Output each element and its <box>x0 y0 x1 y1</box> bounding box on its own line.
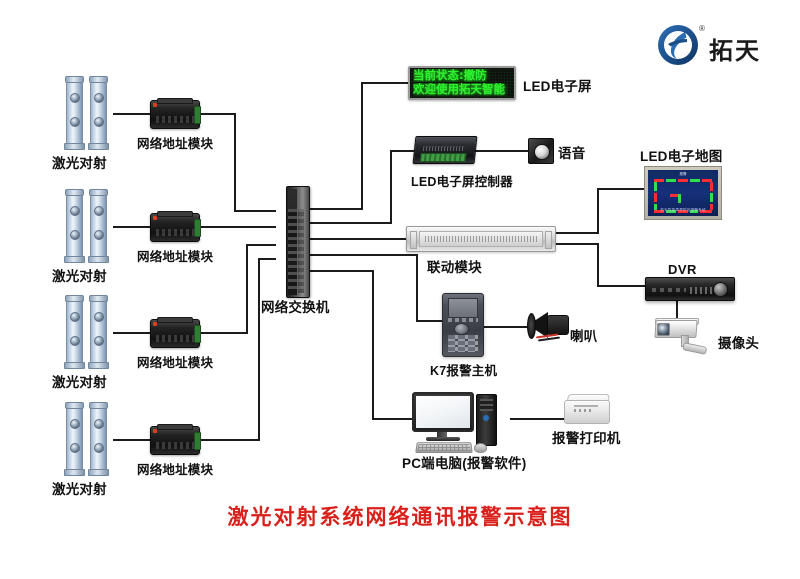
wire-trunk3-switch <box>246 244 276 246</box>
wire-module2-switch <box>198 226 276 228</box>
led-map-screen-title: 报警 <box>648 172 718 177</box>
wire-k7-horn <box>482 326 528 328</box>
network-address-module-4 <box>150 426 200 455</box>
laser-detector-label-4: 激光对射 <box>52 478 107 498</box>
dvr-label: DVR <box>668 262 697 277</box>
wire-trunk3-vertical <box>246 244 248 334</box>
wire-switch-ledctl-v <box>390 150 392 224</box>
wire-detector3-module3 <box>113 332 150 334</box>
network-address-module-label-4: 网络地址模块 <box>137 459 213 478</box>
network-switch <box>286 186 310 298</box>
network-address-module-3 <box>150 319 200 348</box>
registered-mark: ® <box>699 24 705 33</box>
wire-trunk-ledmap-h <box>597 188 644 190</box>
laser-detector-pair-2 <box>66 191 112 261</box>
wire-switch-pc-v <box>372 270 374 420</box>
led-map-label: LED电子地图 <box>640 145 722 165</box>
led-display-label: LED电子屏 <box>523 75 592 95</box>
wire-trunk1-vertical <box>234 113 236 212</box>
laser-detector-pair-4 <box>66 404 112 474</box>
tuotian-emblem-icon <box>655 22 701 68</box>
voice-speaker-module <box>528 138 554 164</box>
wire-module4-trunk <box>198 439 260 441</box>
wire-switch-ledscreen-h2 <box>361 82 408 84</box>
network-address-module-label-3: 网络地址模块 <box>137 352 213 371</box>
wire-linkage-trunk-bottom <box>554 243 599 245</box>
dvr-recorder <box>645 277 735 301</box>
network-address-module-2 <box>150 213 200 242</box>
wire-switch-ledctl-h1 <box>296 222 392 224</box>
wire-trunk1-switch <box>234 210 276 212</box>
wire-switch-ledscreen-v <box>361 82 363 210</box>
alarm-printer-label: 报警打印机 <box>552 427 621 447</box>
wire-trunk4-switch <box>258 258 276 260</box>
wire-switch-pc-h2 <box>372 418 412 420</box>
wire-trunk-dvr-h <box>597 285 645 287</box>
k7-alarm-host-label: K7报警主机 <box>430 360 497 379</box>
network-address-module-1 <box>150 100 200 129</box>
wire-pc-printer <box>510 418 564 420</box>
voice-label: 语音 <box>558 142 585 162</box>
led-display-line1: 当前状态:撤防 <box>413 69 511 82</box>
alarm-printer <box>564 394 612 426</box>
brand-name: 拓天 <box>709 31 761 66</box>
laser-detector-label-3: 激光对射 <box>52 371 107 391</box>
network-address-module-label-1: 网络地址模块 <box>137 133 213 152</box>
led-display-line2: 欢迎使用拓天智能 <box>413 83 511 96</box>
led-electronic-map: 报警 拓天智能周界防范报警系统 <box>644 166 722 220</box>
horn-label: 喇叭 <box>570 325 597 345</box>
surveillance-camera <box>655 318 711 352</box>
wire-switch-k7-h2 <box>416 320 442 322</box>
k7-alarm-host <box>442 293 484 357</box>
wire-switch-linkage <box>296 238 406 240</box>
brand-logo: ® 拓天 <box>655 22 785 70</box>
laser-detector-pair-3 <box>66 297 112 367</box>
wire-switch-k7-v <box>416 254 418 322</box>
led-screen-controller-label: LED电子屏控制器 <box>411 171 513 190</box>
led-map-screen-caption: 拓天智能周界防范报警系统 <box>648 208 718 213</box>
linkage-module-label: 联动模块 <box>427 256 482 276</box>
wire-trunk4-vertical <box>258 258 260 441</box>
network-switch-label: 网络交换机 <box>261 296 330 316</box>
wire-trunk-ledmap-v <box>597 188 599 232</box>
laser-detector-label-2: 激光对射 <box>52 265 107 285</box>
led-screen-controller <box>413 136 478 164</box>
wire-linkage-trunk-top <box>554 232 599 234</box>
network-address-module-label-2: 网络地址模块 <box>137 246 213 265</box>
wire-module1-trunk <box>198 113 236 115</box>
wire-detector2-module2 <box>113 226 150 228</box>
wire-switch-ledctl-h2 <box>390 150 414 152</box>
camera-label: 摄像头 <box>718 332 759 352</box>
diagram-title: 激光对射系统网络通讯报警示意图 <box>0 501 800 531</box>
wire-trunk-dvr-v <box>597 243 599 287</box>
pc-workstation <box>412 392 512 450</box>
laser-detector-label-1: 激光对射 <box>52 152 107 172</box>
diagram-canvas: ® 拓天 <box>0 0 800 579</box>
wire-ledctl-voice <box>474 150 528 152</box>
wire-module3-trunk <box>198 332 248 334</box>
wire-detector4-module4 <box>113 439 150 441</box>
wire-switch-k7-h1 <box>296 254 418 256</box>
laser-detector-pair-1 <box>66 78 112 148</box>
led-display-panel: 当前状态:撤防 欢迎使用拓天智能 <box>408 66 516 100</box>
pc-label: PC端电脑(报警软件) <box>402 452 526 472</box>
linkage-module <box>406 226 556 252</box>
wire-detector1-module1 <box>113 113 150 115</box>
